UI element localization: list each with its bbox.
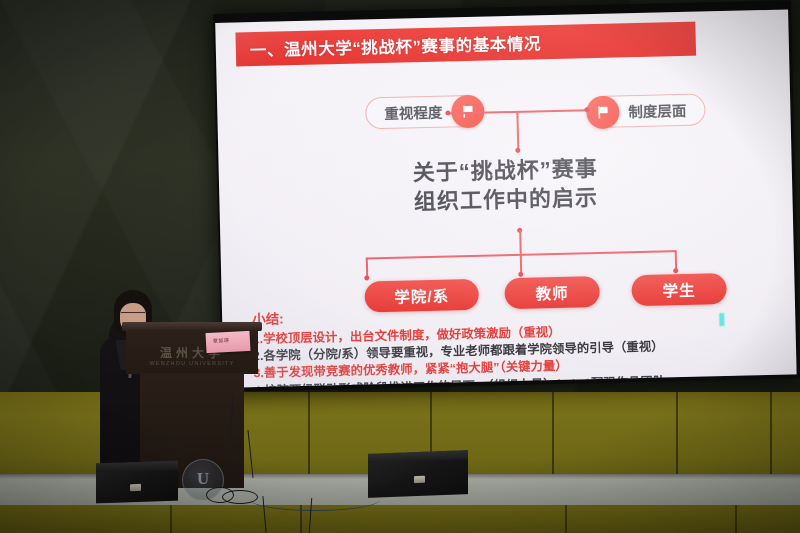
connector-dot bbox=[364, 275, 369, 280]
node-institutional-level: 制度层面 bbox=[589, 93, 706, 128]
center-heading: 关于“挑战杯”赛事 组织工作中的启示 bbox=[219, 149, 793, 221]
podium-brand-en: WENZHOU UNIVERSITY bbox=[126, 361, 258, 367]
name-card: 章如瑛 bbox=[206, 331, 251, 353]
presentation-photo: 一、温州大学“挑战杯”赛事的基本情况 重视程度 bbox=[0, 0, 800, 533]
stage-monitor-right bbox=[368, 450, 468, 498]
connector-top-vertical bbox=[516, 111, 519, 150]
cable-blue bbox=[250, 488, 380, 511]
connector-bottom-stem bbox=[519, 230, 521, 254]
connector-dot bbox=[515, 148, 520, 153]
connector-dot bbox=[518, 272, 523, 277]
node-institutional-level-label: 制度层面 bbox=[628, 99, 686, 121]
connector-dot bbox=[584, 107, 589, 112]
stage-front-panel bbox=[0, 505, 800, 533]
stage-monitor-left bbox=[96, 461, 178, 504]
emblem-letter: U bbox=[183, 469, 223, 489]
podium-face: 温州大学 WENZHOU UNIVERSITY 章如瑛 bbox=[126, 330, 258, 374]
glasses-icon bbox=[121, 312, 145, 319]
slide-canvas: 一、温州大学“挑战杯”赛事的基本情况 重视程度 bbox=[215, 9, 796, 387]
name-card-text: 章如瑛 bbox=[213, 337, 230, 345]
projection-screen: 一、温州大学“挑战杯”赛事的基本情况 重视程度 bbox=[213, 0, 800, 392]
summary-block: 小结: 1.学校顶层设计，出台文件制度，做好政策激励（重视） 2.各学院（分院/… bbox=[252, 301, 666, 387]
connector-dot bbox=[673, 268, 678, 273]
slide-title-bar: 一、温州大学“挑战杯”赛事的基本情况 bbox=[235, 22, 696, 67]
flag-icon bbox=[586, 95, 620, 129]
slide-title-text: 一、温州大学“挑战杯”赛事的基本情况 bbox=[250, 30, 542, 61]
node-importance-label: 重视程度 bbox=[384, 101, 442, 123]
cursor-caret-artifact bbox=[719, 313, 724, 326]
